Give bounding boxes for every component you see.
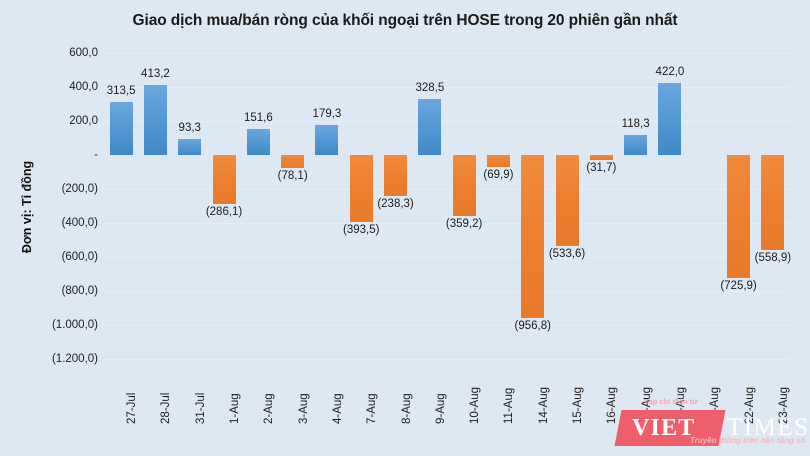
x-axis-tick: 31-Jul [195,362,207,424]
watermark-tagline: Truyền thông trên nền tảng số [690,436,805,445]
plot-area: 313,5413,293,3(286,1)151,6(78,1)179,3(39… [104,53,790,359]
x-axis-tick: 4-Aug [332,362,344,424]
gridline [104,53,790,54]
data-label: (286,1) [187,206,261,218]
x-axis-tick: 11-Aug [503,362,515,424]
data-label: (725,9) [702,280,776,292]
x-axis-tick: 7-Aug [366,362,378,424]
bar[interactable] [453,155,476,216]
x-axis-tick: 2-Aug [263,362,275,424]
gridline [104,291,790,292]
gridline [104,257,790,258]
watermark-brand-primary: VIET [632,415,696,442]
bar[interactable] [590,155,613,160]
y-axis-tick: (400,0) [12,217,98,229]
y-axis-tick-labels: 600,0400,0200,0-(200,0)(400,0)(600,0)(80… [4,53,98,359]
x-axis-tick: 15-Aug [572,362,584,424]
bar[interactable] [178,139,201,155]
data-label: (78,1) [256,170,330,182]
y-axis-tick: (1.000,0) [12,319,98,331]
data-label: (238,3) [359,198,433,210]
data-label: 313,5 [84,85,158,97]
data-label: 328,5 [393,82,467,94]
gridline [104,359,790,360]
x-axis-tick: 10-Aug [469,362,481,424]
bar[interactable] [487,155,510,167]
bar[interactable] [110,102,133,155]
watermark-top-label: Tạp chí điện tử [644,397,698,406]
gridline [104,325,790,326]
data-label: (956,8) [496,320,570,332]
x-axis-tick: 28-Jul [160,362,172,424]
data-label: (533,6) [530,248,604,260]
bar[interactable] [418,99,441,155]
gridline [104,189,790,190]
y-axis-tick: 600,0 [12,47,98,59]
y-axis-tick: (600,0) [12,251,98,263]
data-label: 179,3 [290,108,364,120]
viettimes-watermark: Tạp chí điện tử VIET TIMES Truyền thông … [614,398,810,456]
data-label: 413,2 [118,68,192,80]
chart-title: Giao dịch mua/bán ròng của khối ngoại tr… [0,12,810,30]
x-axis-tick: 1-Aug [229,362,241,424]
data-label: (359,2) [427,218,501,230]
bar[interactable] [384,155,407,196]
x-axis-tick: 14-Aug [538,362,550,424]
data-label: 93,3 [153,122,227,134]
x-axis-tick: 3-Aug [298,362,310,424]
bar[interactable] [247,129,270,155]
data-label: 422,0 [633,66,707,78]
y-axis-tick: (800,0) [12,285,98,297]
y-axis-tick: (1.200,0) [12,353,98,365]
bar[interactable] [350,155,373,222]
y-axis-tick: 200,0 [12,115,98,127]
data-label: 118,3 [599,118,673,130]
gridline [104,155,790,156]
chart-container: Giao dịch mua/bán ròng của khối ngoại tr… [0,0,810,456]
bar[interactable] [624,135,647,155]
data-label: 151,6 [221,112,295,124]
x-axis-tick: 8-Aug [401,362,413,424]
bar[interactable] [761,155,784,250]
data-label: (393,5) [324,224,398,236]
y-axis-tick: (200,0) [12,183,98,195]
data-label: (69,9) [461,169,535,181]
bar[interactable] [315,125,338,155]
x-axis-tick: 27-Jul [126,362,138,424]
bar[interactable] [281,155,304,168]
bar[interactable] [213,155,236,204]
y-axis-tick: - [12,149,98,161]
x-axis-tick: 9-Aug [435,362,447,424]
data-label: (558,9) [736,252,810,264]
data-label: (31,7) [564,162,638,174]
